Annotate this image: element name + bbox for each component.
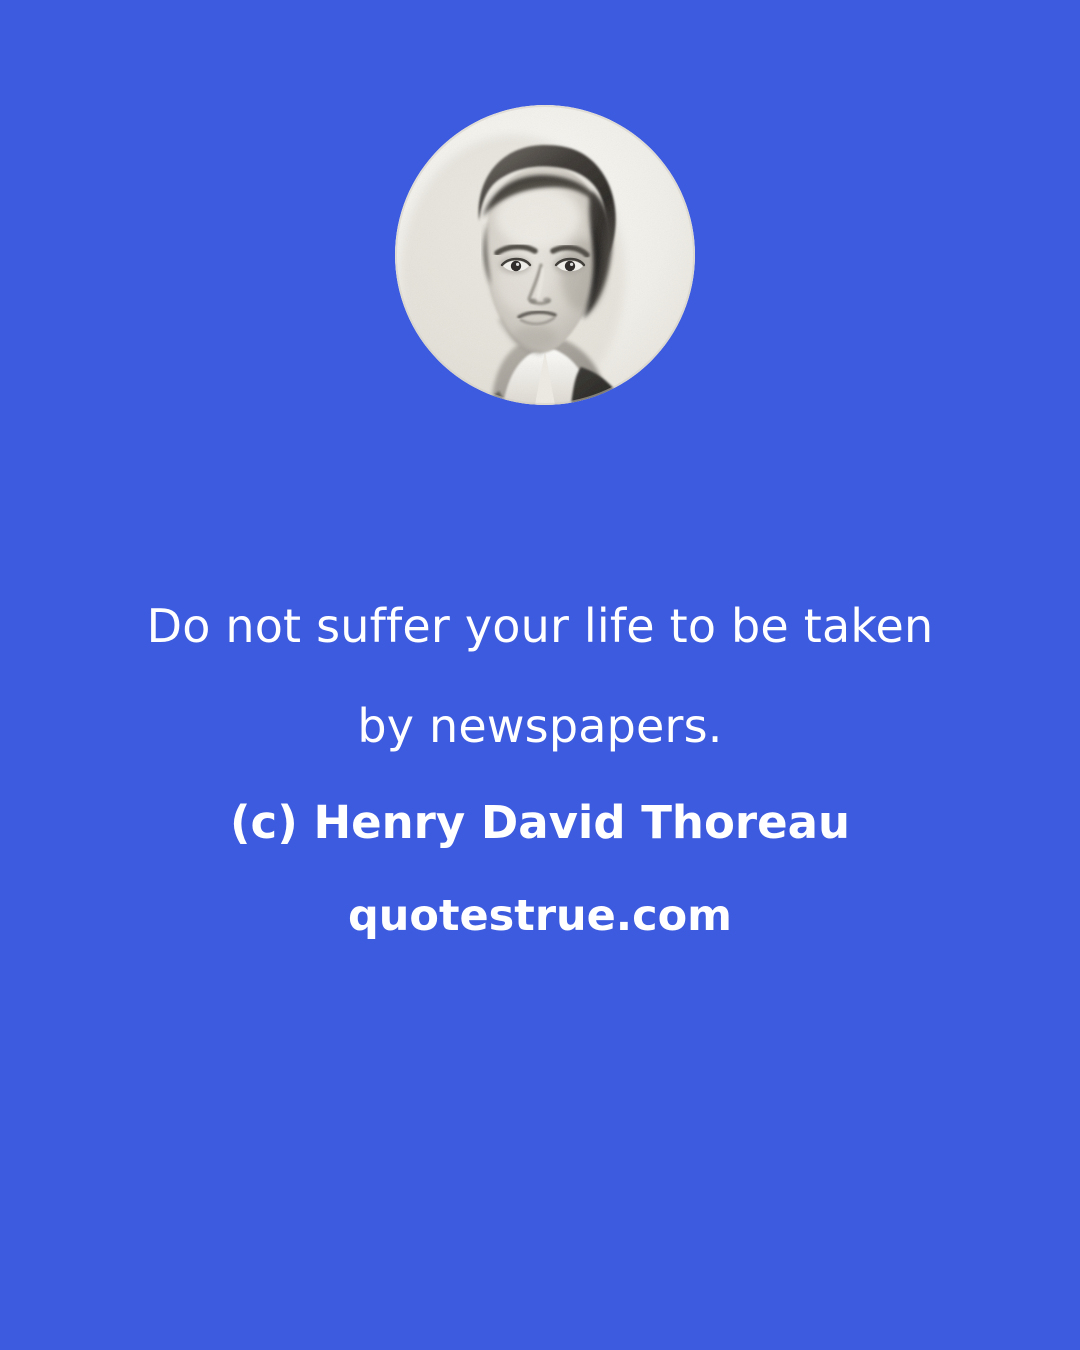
portrait-avatar-icon: [395, 105, 695, 405]
source-website: quotestrue.com: [0, 869, 1080, 964]
quote-line-1: Do not suffer your life to be taken: [0, 576, 1080, 676]
quote-card: Do not suffer your life to be taken by n…: [0, 0, 1080, 1350]
quote-attribution: (c) Henry David Thoreau: [0, 776, 1080, 869]
portrait-circle-frame: [395, 105, 695, 405]
author-portrait: [395, 105, 695, 405]
quote-text-block: Do not suffer your life to be taken by n…: [0, 576, 1080, 964]
quote-line-2: by newspapers.: [0, 676, 1080, 776]
